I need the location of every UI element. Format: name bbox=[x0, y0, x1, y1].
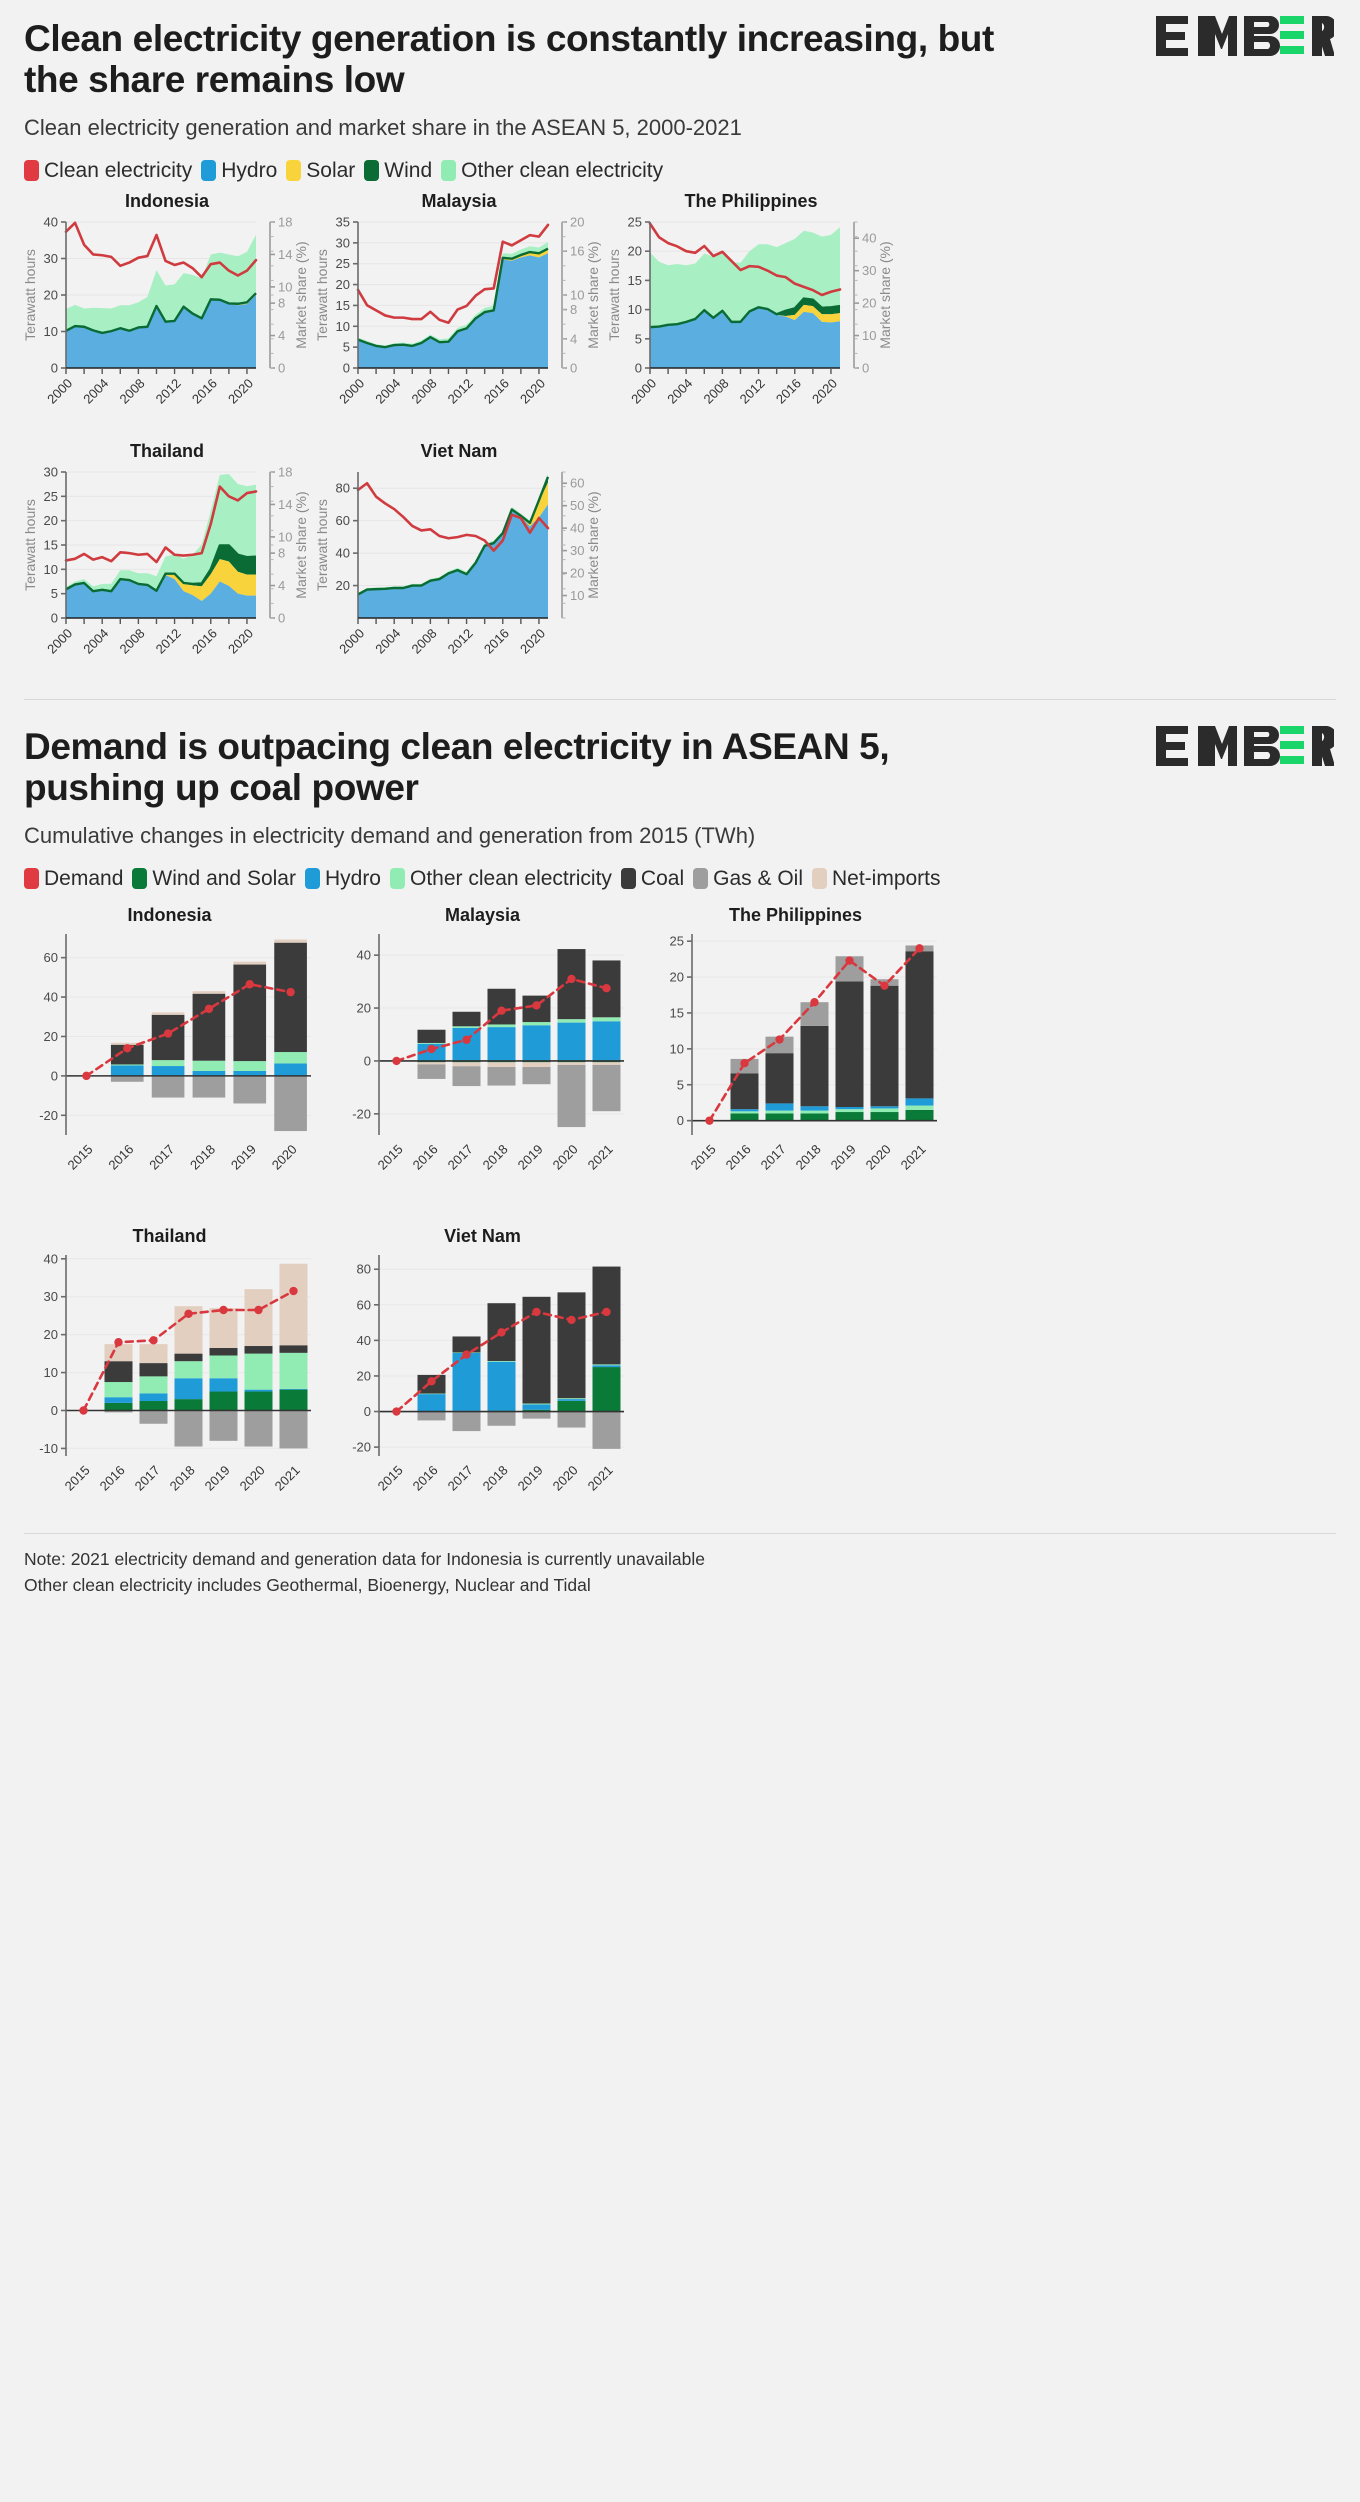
svg-text:0: 0 bbox=[364, 1404, 371, 1419]
svg-text:14: 14 bbox=[278, 497, 292, 512]
svg-text:8: 8 bbox=[278, 295, 285, 310]
section1-subtitle: Clean electricity generation and market … bbox=[24, 115, 1336, 141]
svg-text:40: 40 bbox=[44, 989, 58, 1004]
svg-text:30: 30 bbox=[570, 543, 584, 558]
svg-text:2016: 2016 bbox=[105, 1141, 136, 1172]
svg-text:2016: 2016 bbox=[410, 1462, 441, 1493]
svg-text:2000: 2000 bbox=[628, 375, 659, 406]
section1-header: Clean electricity generation is constant… bbox=[0, 0, 1360, 183]
svg-text:2020: 2020 bbox=[517, 625, 548, 656]
svg-text:2000: 2000 bbox=[336, 625, 367, 656]
svg-text:2020: 2020 bbox=[225, 625, 256, 656]
svg-text:2020: 2020 bbox=[809, 375, 840, 406]
svg-text:Market share (%): Market share (%) bbox=[293, 241, 309, 348]
legend-item: Clean electricity bbox=[24, 159, 192, 183]
svg-text:2008: 2008 bbox=[117, 625, 148, 656]
svg-text:20: 20 bbox=[862, 295, 876, 310]
svg-text:2019: 2019 bbox=[515, 1462, 546, 1493]
svg-text:25: 25 bbox=[336, 256, 350, 271]
svg-text:8: 8 bbox=[278, 545, 285, 560]
svg-text:2016: 2016 bbox=[481, 625, 512, 656]
svg-text:2020: 2020 bbox=[225, 375, 256, 406]
section2-chart-row-2: Thailand -100102030402015201620172018201… bbox=[0, 1226, 1360, 1519]
svg-text:2021: 2021 bbox=[898, 1141, 929, 1172]
svg-text:2016: 2016 bbox=[773, 375, 804, 406]
svg-text:60: 60 bbox=[336, 513, 350, 528]
chart-title: The Philippines bbox=[648, 905, 943, 926]
legend-swatch-clean-electricity bbox=[24, 160, 39, 181]
svg-text:0: 0 bbox=[570, 360, 577, 375]
svg-text:-20: -20 bbox=[39, 1108, 58, 1123]
legend-item: Wind bbox=[364, 159, 432, 183]
chart-malaysia-area: Malaysia 0510152025303504810162020002004… bbox=[314, 191, 604, 419]
svg-text:14: 14 bbox=[278, 247, 292, 262]
svg-text:60: 60 bbox=[44, 950, 58, 965]
svg-text:5: 5 bbox=[635, 331, 642, 346]
svg-text:Terawatt hours: Terawatt hours bbox=[22, 249, 38, 341]
svg-text:40: 40 bbox=[570, 521, 584, 536]
svg-text:2004: 2004 bbox=[80, 625, 111, 656]
legend-label: Wind bbox=[384, 159, 432, 183]
svg-text:10: 10 bbox=[278, 529, 292, 544]
chart-vietnam-bar: Viet Nam -200204060802015201620172018201… bbox=[335, 1226, 630, 1519]
legend-swatch-gas-oil bbox=[693, 868, 708, 889]
svg-text:10: 10 bbox=[628, 302, 642, 317]
svg-text:2020: 2020 bbox=[550, 1141, 581, 1172]
legend-swatch-coal bbox=[621, 868, 636, 889]
svg-text:2016: 2016 bbox=[189, 625, 220, 656]
svg-text:20: 20 bbox=[570, 214, 584, 229]
legend-label: Other clean electricity bbox=[410, 867, 612, 891]
svg-text:2008: 2008 bbox=[409, 375, 440, 406]
svg-text:30: 30 bbox=[44, 251, 58, 266]
svg-text:60: 60 bbox=[357, 1297, 371, 1312]
svg-text:20: 20 bbox=[570, 565, 584, 580]
svg-text:2004: 2004 bbox=[80, 375, 111, 406]
svg-text:2020: 2020 bbox=[863, 1141, 894, 1172]
svg-text:20: 20 bbox=[357, 1000, 371, 1015]
legend-swatch-wind bbox=[364, 160, 379, 181]
svg-text:Terawatt hours: Terawatt hours bbox=[314, 499, 330, 591]
svg-text:0: 0 bbox=[51, 1403, 58, 1418]
svg-text:20: 20 bbox=[357, 1368, 371, 1383]
chart-title: Viet Nam bbox=[314, 441, 604, 462]
svg-text:4: 4 bbox=[570, 331, 577, 346]
svg-text:35: 35 bbox=[336, 214, 350, 229]
svg-text:2017: 2017 bbox=[445, 1141, 476, 1172]
section2-chart-row-1: Indonesia -20020406020152016201720182019… bbox=[0, 905, 1360, 1198]
svg-text:2004: 2004 bbox=[664, 375, 695, 406]
svg-text:0: 0 bbox=[51, 360, 58, 375]
svg-text:2016: 2016 bbox=[189, 375, 220, 406]
svg-text:25: 25 bbox=[670, 933, 684, 948]
section2-legend: Demand Wind and Solar Hydro Other clean … bbox=[24, 867, 1336, 891]
svg-text:2018: 2018 bbox=[480, 1462, 511, 1493]
svg-text:10: 10 bbox=[570, 588, 584, 603]
svg-text:15: 15 bbox=[670, 1005, 684, 1020]
svg-text:2017: 2017 bbox=[146, 1141, 177, 1172]
svg-text:0: 0 bbox=[278, 360, 285, 375]
legend-swatch-hydro bbox=[305, 868, 320, 889]
svg-text:20: 20 bbox=[44, 513, 58, 528]
svg-text:2012: 2012 bbox=[737, 375, 768, 406]
legend-swatch-wind-and-solar bbox=[132, 868, 147, 889]
svg-text:10: 10 bbox=[44, 324, 58, 339]
svg-text:20: 20 bbox=[44, 1029, 58, 1044]
svg-text:5: 5 bbox=[343, 340, 350, 355]
svg-text:20: 20 bbox=[44, 1327, 58, 1342]
chart-indonesia-bar: Indonesia -20020406020152016201720182019… bbox=[22, 905, 317, 1198]
svg-text:2000: 2000 bbox=[44, 625, 75, 656]
legend-swatch-other-clean bbox=[441, 160, 456, 181]
svg-text:2018: 2018 bbox=[793, 1141, 824, 1172]
footer-divider bbox=[24, 1533, 1336, 1534]
svg-text:2012: 2012 bbox=[445, 375, 476, 406]
legend-swatch-hydro bbox=[201, 160, 216, 181]
legend-label: Wind and Solar bbox=[152, 867, 296, 891]
chart-thailand-bar: Thailand -100102030402015201620172018201… bbox=[22, 1226, 317, 1519]
svg-text:60: 60 bbox=[570, 476, 584, 491]
svg-text:50: 50 bbox=[570, 498, 584, 513]
svg-text:2017: 2017 bbox=[132, 1462, 163, 1493]
section1-chart-row-2: Thailand 0510152025300481014182000200420… bbox=[0, 441, 1360, 669]
svg-text:8: 8 bbox=[570, 302, 577, 317]
svg-text:30: 30 bbox=[862, 263, 876, 278]
svg-text:5: 5 bbox=[51, 586, 58, 601]
svg-text:2017: 2017 bbox=[758, 1141, 789, 1172]
svg-text:40: 40 bbox=[357, 947, 371, 962]
svg-text:2008: 2008 bbox=[117, 375, 148, 406]
section2-header: Demand is outpacing clean electricity in… bbox=[0, 708, 1360, 891]
svg-text:2012: 2012 bbox=[153, 375, 184, 406]
footer-note: Note: 2021 electricity demand and genera… bbox=[0, 1546, 1360, 1599]
legend-item: Solar bbox=[286, 159, 355, 183]
svg-text:40: 40 bbox=[862, 231, 876, 246]
svg-text:30: 30 bbox=[44, 1289, 58, 1304]
note-line: Other clean electricity includes Geother… bbox=[24, 1572, 1336, 1598]
svg-text:2016: 2016 bbox=[481, 375, 512, 406]
svg-text:Terawatt hours: Terawatt hours bbox=[606, 249, 622, 341]
svg-text:2012: 2012 bbox=[445, 625, 476, 656]
svg-text:2012: 2012 bbox=[153, 625, 184, 656]
svg-text:2020: 2020 bbox=[550, 1462, 581, 1493]
chart-title: Thailand bbox=[22, 441, 312, 462]
legend-item: Hydro bbox=[201, 159, 277, 183]
svg-text:2015: 2015 bbox=[65, 1141, 96, 1172]
svg-text:0: 0 bbox=[677, 1113, 684, 1128]
svg-text:10: 10 bbox=[44, 1365, 58, 1380]
svg-text:0: 0 bbox=[635, 360, 642, 375]
svg-text:0: 0 bbox=[364, 1053, 371, 1068]
legend-item: Gas & Oil bbox=[693, 867, 803, 891]
svg-text:0: 0 bbox=[51, 1068, 58, 1083]
svg-text:2021: 2021 bbox=[272, 1462, 303, 1493]
svg-text:2019: 2019 bbox=[515, 1141, 546, 1172]
svg-text:2021: 2021 bbox=[585, 1141, 616, 1172]
legend-swatch-demand bbox=[24, 868, 39, 889]
svg-text:80: 80 bbox=[336, 481, 350, 496]
legend-item: Hydro bbox=[305, 867, 381, 891]
svg-text:2004: 2004 bbox=[372, 375, 403, 406]
svg-text:2020: 2020 bbox=[237, 1462, 268, 1493]
svg-text:2004: 2004 bbox=[372, 625, 403, 656]
chart-malaysia-bar: Malaysia -200204020152016201720182019202… bbox=[335, 905, 630, 1198]
svg-text:40: 40 bbox=[44, 214, 58, 229]
svg-text:25: 25 bbox=[44, 489, 58, 504]
chart-title: The Philippines bbox=[606, 191, 896, 212]
legend-item: Other clean electricity bbox=[441, 159, 663, 183]
chart-vietnam-area: Viet Nam 2040608010203040506020002004200… bbox=[314, 441, 604, 669]
svg-text:40: 40 bbox=[336, 545, 350, 560]
legend-label: Hydro bbox=[325, 867, 381, 891]
svg-text:40: 40 bbox=[357, 1333, 371, 1348]
section2-title: Demand is outpacing clean electricity in… bbox=[24, 726, 1034, 809]
svg-text:Market share (%): Market share (%) bbox=[585, 241, 601, 348]
svg-text:2008: 2008 bbox=[409, 625, 440, 656]
svg-text:2015: 2015 bbox=[375, 1462, 406, 1493]
svg-text:2019: 2019 bbox=[202, 1462, 233, 1493]
chart-thailand-area: Thailand 0510152025300481014182000200420… bbox=[22, 441, 312, 669]
ember-logo bbox=[1154, 14, 1334, 58]
svg-text:2020: 2020 bbox=[269, 1141, 300, 1172]
legend-label: Other clean electricity bbox=[461, 159, 663, 183]
svg-text:20: 20 bbox=[628, 244, 642, 259]
note-line: Note: 2021 electricity demand and genera… bbox=[24, 1546, 1336, 1572]
chart-indonesia-area: Indonesia 010203040048101418200020042008… bbox=[22, 191, 312, 419]
svg-text:4: 4 bbox=[278, 578, 285, 593]
svg-text:2000: 2000 bbox=[336, 375, 367, 406]
svg-text:0: 0 bbox=[278, 610, 285, 625]
svg-text:20: 20 bbox=[336, 578, 350, 593]
svg-text:20: 20 bbox=[336, 277, 350, 292]
svg-text:25: 25 bbox=[628, 214, 642, 229]
svg-text:2018: 2018 bbox=[187, 1141, 218, 1172]
chart-title: Malaysia bbox=[335, 905, 630, 926]
svg-text:2016: 2016 bbox=[410, 1141, 441, 1172]
legend-item: Other clean electricity bbox=[390, 867, 612, 891]
svg-text:18: 18 bbox=[278, 464, 292, 479]
section-clean-electricity: Clean electricity generation is constant… bbox=[0, 0, 1360, 669]
svg-text:2008: 2008 bbox=[701, 375, 732, 406]
chart-title: Malaysia bbox=[314, 191, 604, 212]
svg-text:-20: -20 bbox=[352, 1106, 371, 1121]
svg-text:2015: 2015 bbox=[688, 1141, 719, 1172]
svg-text:2015: 2015 bbox=[62, 1462, 93, 1493]
svg-text:40: 40 bbox=[44, 1251, 58, 1266]
svg-text:2016: 2016 bbox=[723, 1141, 754, 1172]
svg-text:2020: 2020 bbox=[517, 375, 548, 406]
svg-text:15: 15 bbox=[336, 298, 350, 313]
svg-text:2019: 2019 bbox=[228, 1141, 259, 1172]
legend-label: Clean electricity bbox=[44, 159, 192, 183]
chart-title: Viet Nam bbox=[335, 1226, 630, 1247]
svg-text:Market share (%): Market share (%) bbox=[877, 241, 893, 348]
svg-text:2021: 2021 bbox=[585, 1462, 616, 1493]
svg-text:0: 0 bbox=[343, 360, 350, 375]
svg-text:30: 30 bbox=[336, 235, 350, 250]
svg-text:Terawatt hours: Terawatt hours bbox=[22, 499, 38, 591]
chart-philippines-bar: The Philippines 051015202520152016201720… bbox=[648, 905, 943, 1198]
svg-text:0: 0 bbox=[862, 360, 869, 375]
svg-text:10: 10 bbox=[862, 328, 876, 343]
svg-text:20: 20 bbox=[670, 969, 684, 984]
svg-text:Terawatt hours: Terawatt hours bbox=[314, 249, 330, 341]
legend-item: Demand bbox=[24, 867, 123, 891]
legend-item: Coal bbox=[621, 867, 684, 891]
svg-text:-10: -10 bbox=[39, 1441, 58, 1456]
svg-text:Market share (%): Market share (%) bbox=[585, 491, 601, 598]
svg-text:10: 10 bbox=[670, 1041, 684, 1056]
ember-logo bbox=[1154, 724, 1334, 768]
svg-text:2016: 2016 bbox=[97, 1462, 128, 1493]
svg-text:10: 10 bbox=[336, 319, 350, 334]
svg-text:15: 15 bbox=[44, 537, 58, 552]
legend-label: Net-imports bbox=[832, 867, 941, 891]
legend-swatch-other-clean bbox=[390, 868, 405, 889]
section1-title: Clean electricity generation is constant… bbox=[24, 18, 1034, 101]
svg-text:30: 30 bbox=[44, 464, 58, 479]
svg-text:2018: 2018 bbox=[480, 1141, 511, 1172]
svg-text:80: 80 bbox=[357, 1261, 371, 1276]
chart-title: Indonesia bbox=[22, 905, 317, 926]
legend-item: Wind and Solar bbox=[132, 867, 296, 891]
chart-title: Indonesia bbox=[22, 191, 312, 212]
svg-text:5: 5 bbox=[677, 1077, 684, 1092]
svg-text:10: 10 bbox=[278, 279, 292, 294]
svg-text:16: 16 bbox=[570, 244, 584, 259]
svg-text:Market share (%): Market share (%) bbox=[293, 491, 309, 598]
section-divider bbox=[24, 699, 1336, 700]
legend-label: Solar bbox=[306, 159, 355, 183]
svg-text:10: 10 bbox=[44, 562, 58, 577]
legend-swatch-solar bbox=[286, 160, 301, 181]
svg-text:2017: 2017 bbox=[445, 1462, 476, 1493]
svg-text:0: 0 bbox=[51, 610, 58, 625]
legend-label: Demand bbox=[44, 867, 123, 891]
legend-label: Gas & Oil bbox=[713, 867, 803, 891]
svg-text:2000: 2000 bbox=[44, 375, 75, 406]
svg-text:2015: 2015 bbox=[375, 1141, 406, 1172]
chart-title: Thailand bbox=[22, 1226, 317, 1247]
svg-text:4: 4 bbox=[278, 328, 285, 343]
svg-text:18: 18 bbox=[278, 214, 292, 229]
legend-label: Coal bbox=[641, 867, 684, 891]
legend-item: Net-imports bbox=[812, 867, 941, 891]
svg-text:15: 15 bbox=[628, 273, 642, 288]
legend-swatch-net-imports bbox=[812, 868, 827, 889]
section1-legend: Clean electricity Hydro Solar Wind Other… bbox=[24, 159, 1336, 183]
section2-subtitle: Cumulative changes in electricity demand… bbox=[24, 823, 1336, 849]
legend-label: Hydro bbox=[221, 159, 277, 183]
chart-philippines-area: The Philippines 051015202501020304020002… bbox=[606, 191, 896, 419]
svg-text:20: 20 bbox=[44, 287, 58, 302]
section-demand-outpacing: Demand is outpacing clean electricity in… bbox=[0, 708, 1360, 1519]
section1-chart-row-1: Indonesia 010203040048101418200020042008… bbox=[0, 191, 1360, 419]
svg-text:2018: 2018 bbox=[167, 1462, 198, 1493]
svg-text:10: 10 bbox=[570, 287, 584, 302]
svg-text:-20: -20 bbox=[352, 1439, 371, 1454]
svg-text:2019: 2019 bbox=[828, 1141, 859, 1172]
